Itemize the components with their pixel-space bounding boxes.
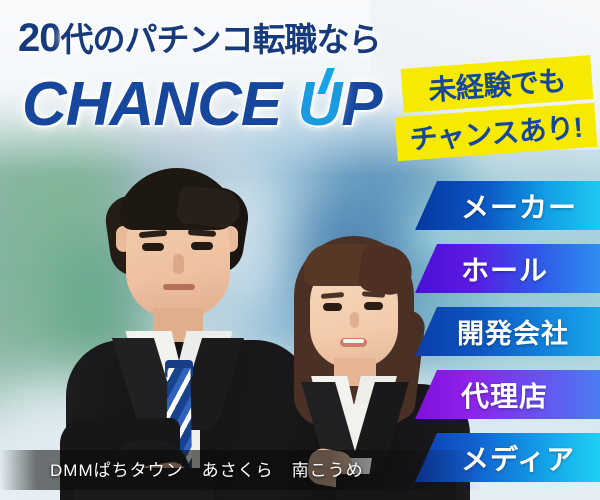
category-button-development-company[interactable]: 開発会社 <box>415 307 600 356</box>
headline-primary: 20代のパチンコ転職なら <box>18 18 438 58</box>
brand-text-chance: CHANCE <box>22 70 297 139</box>
caption-credit: DMMぱちタウン あさくら 南こうめ <box>50 456 364 481</box>
badge-label: 未経験でも <box>427 59 567 109</box>
recruitment-banner: 20代のパチンコ転職なら CHANCE UP 未経験でも チャンスあり! メーカ… <box>0 0 600 500</box>
headline-brand: CHANCE UP <box>22 74 382 136</box>
category-button-agency[interactable]: 代理店 <box>415 370 600 419</box>
category-label: ホール <box>461 249 548 289</box>
brand-letter-p: P <box>341 70 381 139</box>
category-label: 開発会社 <box>457 312 569 351</box>
headline-age-suffix: 代のパチンコ転職なら <box>61 21 381 58</box>
brand-letter-u: U <box>297 70 341 139</box>
brand-letter-u-group: U <box>297 74 341 136</box>
headline-age-number: 20 <box>18 16 61 60</box>
category-button-maker[interactable]: メーカー <box>415 181 600 230</box>
category-button-hall[interactable]: ホール <box>415 244 600 293</box>
category-label: 代理店 <box>461 375 548 415</box>
category-label: メーカー <box>461 186 577 226</box>
